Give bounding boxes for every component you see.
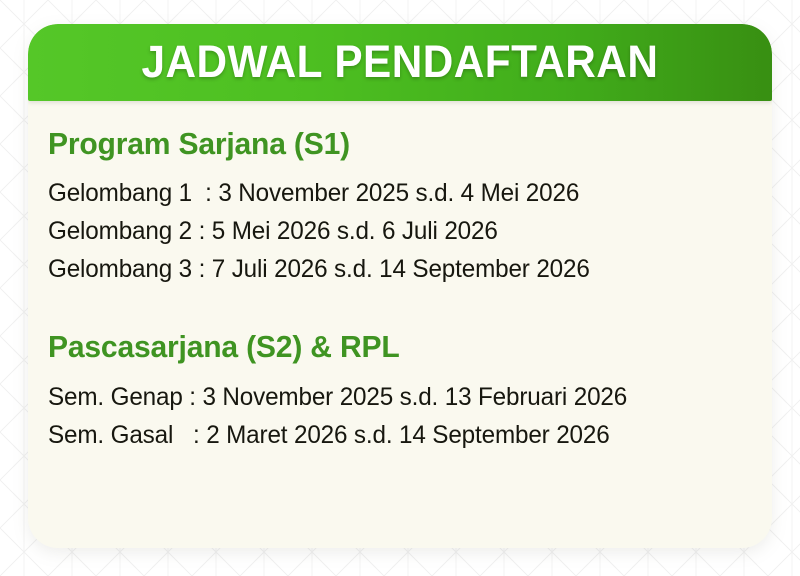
card-header-banner: JADWAL PENDAFTARAN [28,24,772,101]
section-heading-program-sarjana: Program Sarjana (S1) [48,127,727,160]
registration-schedule-card: JADWAL PENDAFTARAN Program Sarjana (S1) … [28,24,772,548]
schedule-row: Gelombang 2 : 5 Mei 2026 s.d. 6 Juli 202… [48,212,727,250]
schedule-row: Sem. Gasal : 2 Maret 2026 s.d. 14 Septem… [48,416,727,454]
page-title: JADWAL PENDAFTARAN [142,39,659,86]
section-program-sarjana: Program Sarjana (S1) Gelombang 1 : 3 Nov… [48,127,748,288]
schedule-row: Gelombang 3 : 7 Juli 2026 s.d. 14 Septem… [48,250,727,288]
schedule-row: Sem. Genap : 3 November 2025 s.d. 13 Feb… [48,378,727,416]
card-body: Program Sarjana (S1) Gelombang 1 : 3 Nov… [28,101,772,454]
schedule-list-program-sarjana: Gelombang 1 : 3 November 2025 s.d. 4 Mei… [48,174,748,288]
schedule-row: Gelombang 1 : 3 November 2025 s.d. 4 Mei… [48,174,727,212]
section-heading-pascasarjana-rpl: Pascasarjana (S2) & RPL [48,330,727,363]
section-pascasarjana-rpl: Pascasarjana (S2) & RPL Sem. Genap : 3 N… [48,330,748,453]
schedule-list-pascasarjana-rpl: Sem. Genap : 3 November 2025 s.d. 13 Feb… [48,378,748,454]
